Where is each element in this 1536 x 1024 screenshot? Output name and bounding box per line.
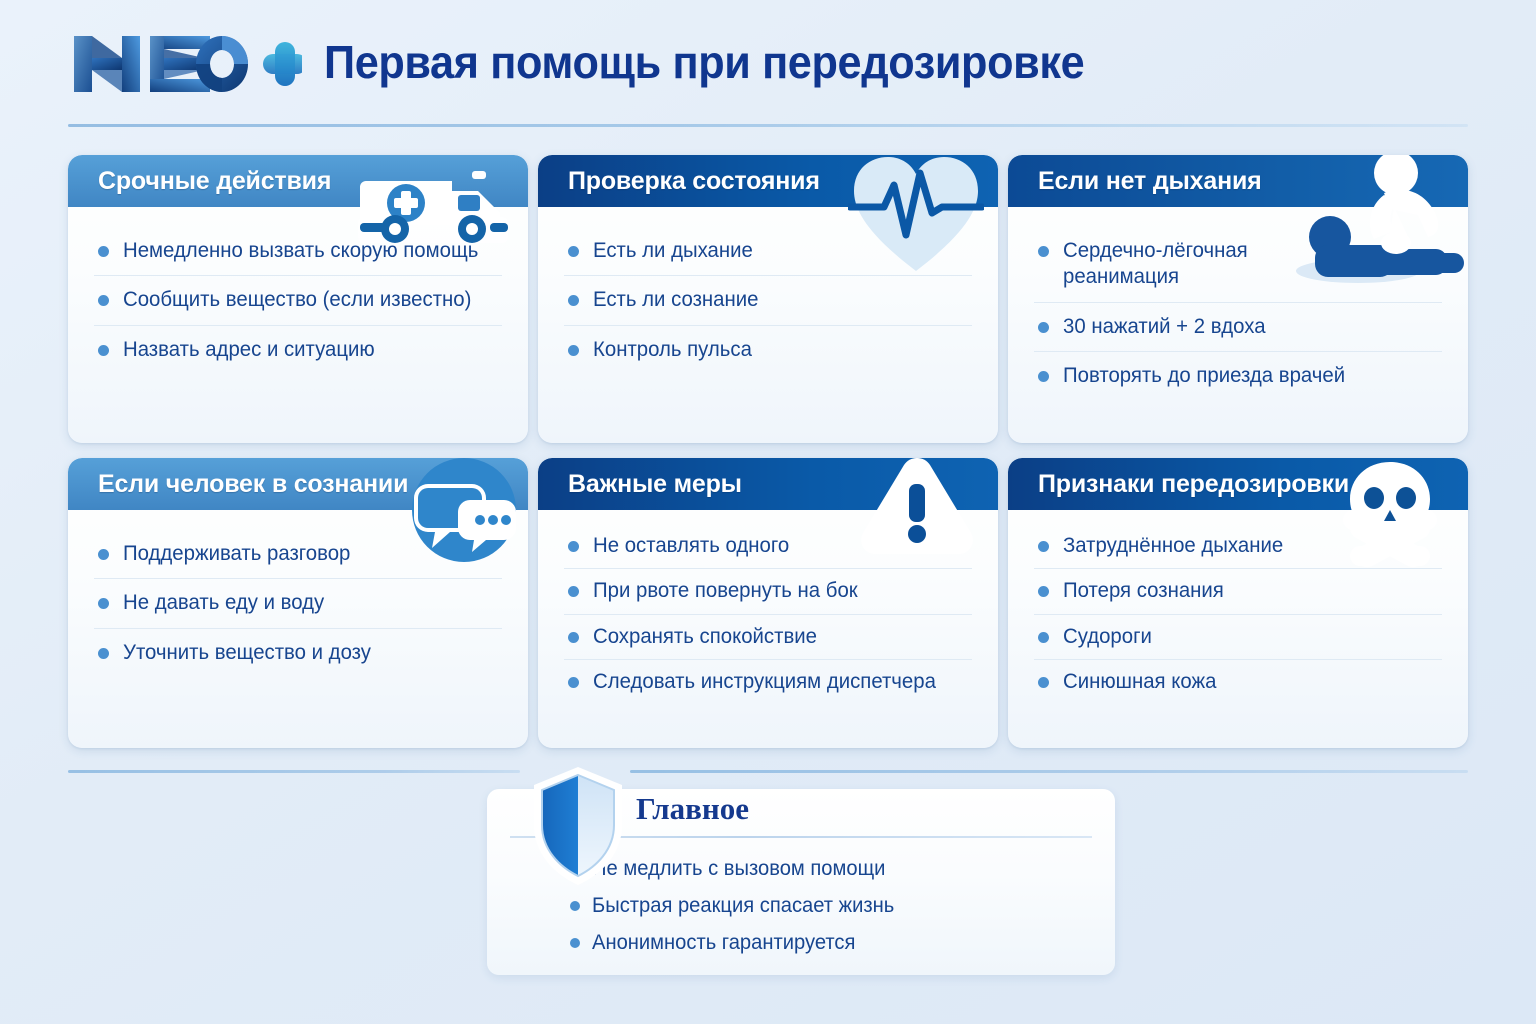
list-item[interactable]: Потеря сознания — [1034, 569, 1442, 614]
card-title: Если нет дыхания — [1038, 167, 1262, 196]
card-important-measures[interactable]: Важные меры Не оставлять одного При рвот… — [538, 458, 998, 748]
list-item-label: Сохранять спокойствие — [593, 624, 817, 650]
list-item-label: Есть ли сознание — [593, 287, 758, 313]
brand-logo — [70, 28, 302, 100]
list-item[interactable]: Не медлить с вызовом помощи — [570, 850, 1090, 887]
list-item-label: Контроль пульса — [593, 337, 752, 363]
list-item-label: Есть ли дыхание — [593, 238, 753, 264]
card-header: Признаки передозировки — [1008, 458, 1468, 510]
bullet-dot-icon — [1038, 677, 1049, 688]
bullet-dot-icon — [98, 549, 109, 560]
list-item[interactable]: Повторять до приезда врачей — [1034, 352, 1442, 400]
list-item[interactable]: При рвоте повернуть на бок — [564, 569, 972, 614]
list-item[interactable]: Есть ли дыхание — [564, 227, 972, 276]
list-item[interactable]: Сердечно-лёгочная реанимация — [1034, 227, 1442, 303]
list-item[interactable]: Сообщить вещество (если известно) — [94, 276, 502, 325]
card-body: Немедленно вызвать скорую помощь Сообщит… — [68, 207, 528, 392]
bottom-divider-left — [68, 770, 520, 773]
list-item-label: Не давать еду и воду — [123, 590, 324, 616]
card-header: Срочные действия — [68, 155, 528, 207]
list-item-label: Потеря сознания — [1063, 578, 1224, 604]
bullet-dot-icon — [98, 648, 109, 659]
card-body: Поддерживать разговор Не давать еду и во… — [68, 510, 528, 695]
bullet-dot-icon — [1038, 541, 1049, 552]
list-item[interactable]: Контроль пульса — [564, 326, 972, 374]
list-item[interactable]: Назвать адрес и ситуацию — [94, 326, 502, 374]
list-item[interactable]: Синюшная кожа — [1034, 660, 1442, 704]
card-body: Есть ли дыхание Есть ли сознание Контрол… — [538, 207, 998, 392]
list-item[interactable]: Не давать еду и воду — [94, 579, 502, 628]
bottom-divider-right — [630, 770, 1468, 773]
card-body: Сердечно-лёгочная реанимация 30 нажатий … — [1008, 207, 1468, 418]
bullet-dot-icon — [570, 938, 580, 948]
summary-title: Главное — [636, 791, 749, 827]
list-item-label: Назвать адрес и ситуацию — [123, 337, 375, 363]
list-item-label: Быстрая реакция спасает жизнь — [592, 893, 894, 918]
list-item-label: При рвоте повернуть на бок — [593, 578, 858, 604]
card-header: Важные меры — [538, 458, 998, 510]
card-overdose-signs[interactable]: Признаки передозировки Затруднённое — [1008, 458, 1468, 748]
list-item[interactable]: Есть ли сознание — [564, 276, 972, 325]
card-person-conscious[interactable]: Если человек в сознании Поддерживать раз… — [68, 458, 528, 748]
card-title: Признаки передозировки — [1038, 470, 1349, 499]
list-item[interactable]: Судороги — [1034, 615, 1442, 660]
bullet-dot-icon — [98, 598, 109, 609]
list-item[interactable]: Следовать инструкциям диспетчера — [564, 660, 972, 704]
card-header: Проверка состояния — [538, 155, 998, 207]
list-item[interactable]: Быстрая реакция спасает жизнь — [570, 887, 1090, 924]
list-item[interactable]: 30 нажатий + 2 вдоха — [1034, 303, 1442, 352]
bullet-dot-icon — [98, 246, 109, 257]
bullet-dot-icon — [1038, 632, 1049, 643]
header-divider — [68, 124, 1468, 127]
card-no-breathing[interactable]: Если нет дыхания Сердечно-лёгочная реани… — [1008, 155, 1468, 443]
card-condition-check[interactable]: Проверка состояния Есть ли дыхание Есть … — [538, 155, 998, 443]
bullet-dot-icon — [1038, 371, 1049, 382]
bullet-dot-icon — [1038, 322, 1049, 333]
bullet-dot-icon — [1038, 246, 1049, 257]
list-item-label: Не медлить с вызовом помощи — [592, 856, 885, 881]
bullet-dot-icon — [568, 295, 579, 306]
bullet-dot-icon — [98, 345, 109, 356]
list-item-label: Затруднённое дыхание — [1063, 533, 1283, 559]
list-item[interactable]: Не оставлять одного — [564, 524, 972, 569]
card-urgent-actions[interactable]: Срочные действия Немедленно вызвать скор… — [68, 155, 528, 443]
list-item-label: Не оставлять одного — [593, 533, 789, 559]
list-item[interactable]: Анонимность гарантируется — [570, 924, 1090, 961]
page-header: Первая помощь при передозировке — [0, 0, 1536, 128]
list-item[interactable]: Поддерживать разговор — [94, 530, 502, 579]
card-header: Если человек в сознании — [68, 458, 528, 510]
card-title: Важные меры — [568, 470, 742, 499]
list-item-label: Синюшная кожа — [1063, 669, 1216, 695]
list-item-label: 30 нажатий + 2 вдоха — [1063, 314, 1266, 340]
list-item-label: Повторять до приезда врачей — [1063, 363, 1345, 389]
list-item-label: Следовать инструкциям диспетчера — [593, 669, 936, 695]
bullet-dot-icon — [1038, 586, 1049, 597]
card-body: Не оставлять одного При рвоте повернуть … — [538, 510, 998, 722]
list-item-label: Сообщить вещество (если известно) — [123, 287, 471, 313]
list-item-label: Анонимность гарантируется — [592, 930, 855, 955]
list-item[interactable]: Сохранять спокойствие — [564, 615, 972, 660]
list-item[interactable]: Уточнить вещество и дозу — [94, 629, 502, 677]
page-title: Первая помощь при передозировке — [324, 39, 1084, 89]
bullet-dot-icon — [568, 246, 579, 257]
bullet-dot-icon — [570, 901, 580, 911]
card-title: Проверка состояния — [568, 167, 820, 196]
list-item[interactable]: Немедленно вызвать скорую помощь — [94, 227, 502, 276]
list-item-label: Немедленно вызвать скорую помощь — [123, 238, 478, 264]
card-title: Если человек в сознании — [98, 470, 408, 499]
summary-list: Не медлить с вызовом помощи Быстрая реак… — [570, 850, 1090, 962]
card-body: Затруднённое дыхание Потеря сознания Суд… — [1008, 510, 1468, 722]
bullet-dot-icon — [568, 345, 579, 356]
list-item[interactable]: Затруднённое дыхание — [1034, 524, 1442, 569]
bullet-dot-icon — [568, 586, 579, 597]
bullet-dot-icon — [568, 677, 579, 688]
bullet-dot-icon — [568, 632, 579, 643]
bullet-dot-icon — [568, 541, 579, 552]
shield-icon — [530, 765, 626, 887]
list-item-label: Поддерживать разговор — [123, 541, 350, 567]
list-item-label: Сердечно-лёгочная реанимация — [1063, 238, 1291, 291]
list-item-label: Уточнить вещество и дозу — [123, 640, 371, 666]
bullet-dot-icon — [98, 295, 109, 306]
card-header: Если нет дыхания — [1008, 155, 1468, 207]
card-title: Срочные действия — [98, 167, 331, 196]
neo-plus-logo-icon — [70, 28, 302, 100]
list-item-label: Судороги — [1063, 624, 1152, 650]
